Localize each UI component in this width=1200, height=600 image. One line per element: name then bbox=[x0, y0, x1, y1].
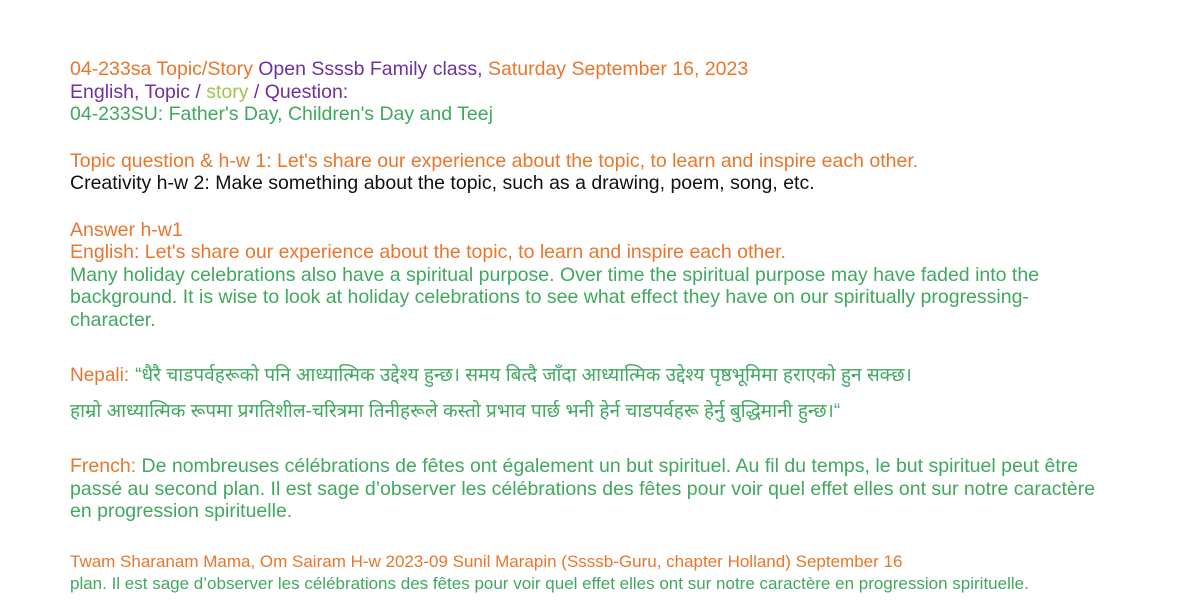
footer-french-tail-line: plan. Il est sage d’observer les célébra… bbox=[70, 573, 1105, 594]
answer-heading: Answer h-w1 bbox=[70, 219, 1105, 242]
topic-block: Topic question & h-w 1: Let's share our … bbox=[70, 150, 1105, 195]
nepali-label: Nepali: bbox=[70, 365, 129, 386]
header-suffix: / Question: bbox=[248, 81, 348, 103]
french-label: French: bbox=[70, 455, 136, 477]
header-block: 04-233sa Topic/Story Open Ssssb Family c… bbox=[70, 58, 1105, 126]
document-page: 04-233sa Topic/Story Open Ssssb Family c… bbox=[0, 0, 1200, 600]
header-prefix: English, Topic / bbox=[70, 81, 206, 103]
header-line-2: English, Topic / story / Question: bbox=[70, 81, 1105, 104]
footer-block: Twam Sharanam Mama, Om Sairam H-w 2023-0… bbox=[70, 551, 1105, 594]
document-body: 04-233sa Topic/Story Open Ssssb Family c… bbox=[70, 58, 1105, 594]
class-name: Open Ssssb Family class, bbox=[258, 58, 482, 80]
nepali-line-1: Nepali:“धैरै चाडपर्वहरूको पनि आध्यात्मिक… bbox=[70, 359, 1105, 393]
answer-block: Answer h-w1 English: Let's share our exp… bbox=[70, 219, 1105, 332]
header-line-3-subject: 04-233SU: Father's Day, Children's Day a… bbox=[70, 103, 1105, 126]
nepali-text-line-1: “धैरै चाडपर्वहरूको पनि आध्यात्मिक उद्देश… bbox=[135, 365, 912, 386]
footer-signature-line: Twam Sharanam Mama, Om Sairam H-w 2023-0… bbox=[70, 551, 1105, 572]
creativity-homework-line: Creativity h-w 2: Make something about t… bbox=[70, 172, 1105, 195]
answer-english-prompt: English: Let's share our experience abou… bbox=[70, 241, 1105, 264]
topic-reference: 04-233sa Topic/Story bbox=[70, 58, 258, 80]
header-story-word: story bbox=[206, 81, 248, 103]
header-line-1: 04-233sa Topic/Story Open Ssssb Family c… bbox=[70, 58, 1105, 81]
french-body: De nombreuses célébrations de fêtes ont … bbox=[70, 455, 1095, 522]
french-block: French: De nombreuses célébrations de fê… bbox=[70, 455, 1105, 523]
nepali-text-line-2: हाम्रो आध्यात्मिक रूपमा प्रगतिशील-चरित्र… bbox=[70, 395, 1105, 429]
session-date: Saturday September 16, 2023 bbox=[483, 58, 749, 80]
nepali-block: Nepali:“धैरै चाडपर्वहरूको पनि आध्यात्मिक… bbox=[70, 359, 1105, 429]
topic-question-line: Topic question & h-w 1: Let's share our … bbox=[70, 150, 1105, 173]
answer-english-body: Many holiday celebrations also have a sp… bbox=[70, 264, 1105, 332]
